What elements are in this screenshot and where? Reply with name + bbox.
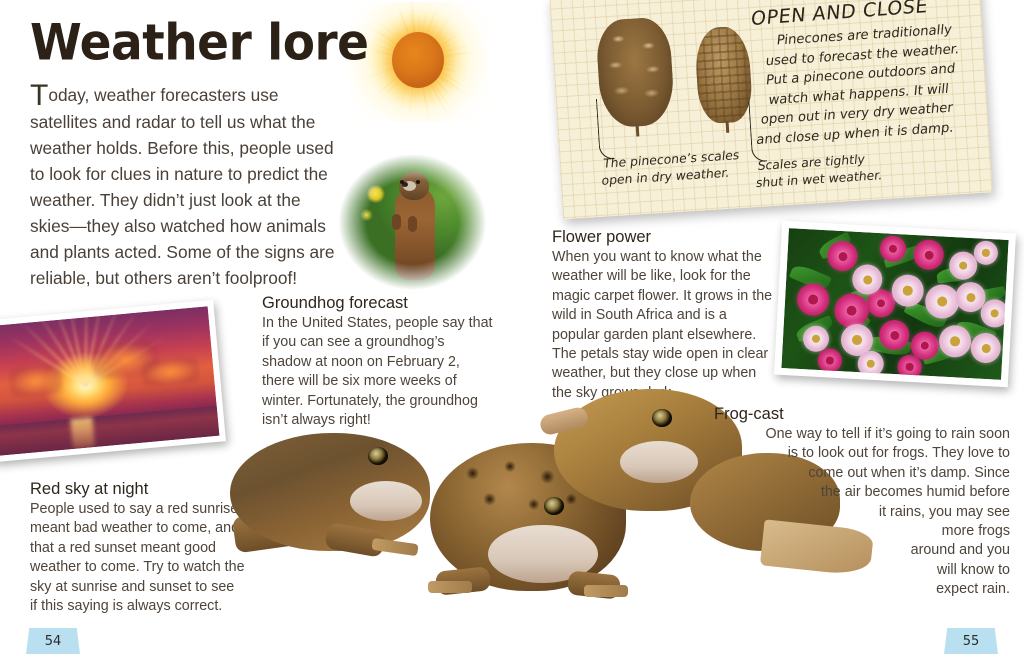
- frog-middle-foot: [428, 581, 472, 593]
- frog-cast-line: more frogs: [714, 522, 1010, 541]
- red-sky-section: Red sky at night People used to say a re…: [30, 480, 245, 616]
- magic-carpet-bloom: [857, 350, 884, 377]
- sun-illustration: [348, 2, 488, 122]
- flower-power-body: When you want to know what the weather w…: [552, 248, 778, 403]
- page-title: Weather lore: [30, 14, 369, 72]
- magic-carpet-bloom: [980, 299, 1009, 328]
- magic-carpet-bloom: [796, 283, 830, 317]
- sunset-sea: [0, 406, 219, 456]
- pinecone-note-card: OPEN AND CLOSE Pinecones are traditional…: [549, 0, 992, 219]
- frog-cast-line: the air becomes humid before: [714, 483, 1010, 502]
- sun-core: [392, 32, 444, 88]
- frog-left-belly: [350, 481, 422, 521]
- frog-cast-line: will know to: [714, 561, 1010, 580]
- page-number-right: 55: [944, 628, 998, 654]
- frog-left-eye: [368, 447, 388, 465]
- intro-paragraph: Today, weather forecasters use satellite…: [30, 82, 340, 291]
- frog-cast-body: One way to tell if it’s going to rain so…: [714, 425, 1010, 600]
- magic-carpet-bloom: [913, 239, 945, 271]
- red-sky-body: People used to say a red sunrise meant b…: [30, 500, 245, 616]
- note-card-body: Pinecones are traditionally used to fore…: [736, 19, 983, 152]
- frog-middle-foot: [584, 585, 628, 597]
- groundhog-scene: [336, 152, 489, 292]
- book-spread: Weather lore Today, weather forecasters …: [0, 0, 1024, 666]
- magic-carpet-bloom: [817, 348, 842, 373]
- magic-carpet-bloom: [827, 240, 859, 272]
- magic-carpet-bloom: [973, 240, 998, 265]
- sunset-photo-inner: [0, 306, 219, 456]
- flower-power-section: Flower power When you want to know what …: [552, 228, 778, 403]
- sunset-scene: [0, 306, 219, 456]
- frog-cast-line: One way to tell if it’s going to rain so…: [714, 425, 1010, 444]
- magic-carpet-bloom: [897, 354, 922, 379]
- sunset-cloud: [8, 364, 63, 399]
- intro-dropcap: T: [30, 79, 48, 112]
- frog-cast-heading: Frog-cast: [714, 405, 1010, 424]
- frog-cast-line: it rains, you may see: [714, 503, 1010, 522]
- callout-shut-scales: Scales are tightly shut in wet weather.: [755, 149, 888, 191]
- flowers-photo-inner: [781, 228, 1008, 380]
- magic-carpet-bloom: [924, 284, 960, 320]
- groundhog-paw: [408, 216, 417, 232]
- groundhog-photo: [336, 152, 489, 292]
- magic-carpet-bloom: [891, 274, 925, 308]
- sunset-cloud: [141, 357, 199, 388]
- groundhog-eye: [400, 180, 404, 184]
- sunset-rays: [0, 306, 208, 326]
- frog-middle-eye: [544, 497, 564, 515]
- groundhog-eye: [416, 180, 420, 184]
- callout-open-scales: The pinecone’s scales open in dry weathe…: [601, 145, 749, 188]
- frog-cast-line: expect rain.: [714, 580, 1010, 599]
- frog-cast-line: come out when it’s damp. Since: [714, 464, 1010, 483]
- red-sky-heading: Red sky at night: [30, 480, 245, 499]
- groundhog-forecast-heading: Groundhog forecast: [262, 294, 494, 313]
- flower-power-heading: Flower power: [552, 228, 778, 247]
- frog-right-belly: [620, 441, 698, 483]
- page-number-left: 54: [26, 628, 80, 654]
- frog-cast-line: around and you: [714, 541, 1010, 560]
- flowers-scene: [781, 228, 1008, 380]
- groundhog-paw: [392, 214, 401, 230]
- frog-cast-line: is to look out for frogs. They love to: [714, 444, 1010, 463]
- groundhog-body: [395, 186, 435, 280]
- intro-text: oday, weather forecasters use satellites…: [30, 85, 335, 288]
- magic-carpet-bloom: [970, 332, 1002, 364]
- red-sunset-photo: [0, 300, 226, 463]
- sunset-water-glint: [71, 417, 96, 449]
- frog-cast-section: Frog-cast One way to tell if it’s going …: [714, 405, 1010, 600]
- magic-carpet-bloom: [938, 324, 972, 358]
- magic-carpet-flowers-photo: [774, 221, 1016, 387]
- frog-right-eye: [652, 409, 672, 427]
